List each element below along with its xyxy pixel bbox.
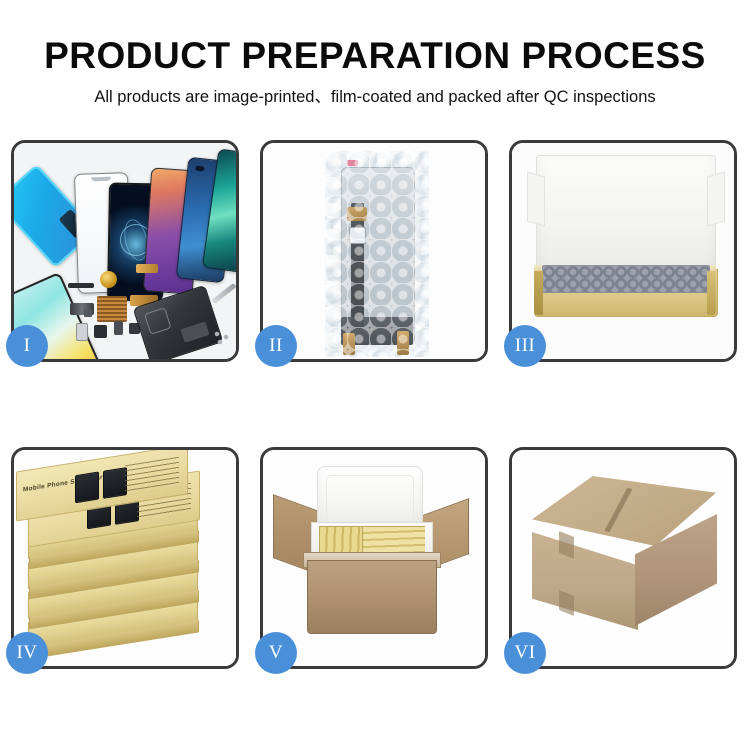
- bubble-wrap-pouch: [325, 151, 429, 357]
- box-edge-left: [534, 271, 543, 315]
- step-badge-4: IV: [6, 632, 48, 674]
- step-badge-2: II: [255, 325, 297, 367]
- page-subtitle: All products are image-printed、film-coat…: [0, 85, 750, 109]
- lid-screen-image-a: [75, 471, 99, 503]
- part-chip-e: [84, 309, 92, 317]
- part-copper-grid: [97, 296, 127, 322]
- part-chip-b: [94, 325, 107, 338]
- part-screws: [214, 331, 232, 345]
- step-card-4: Mobile Phone Spare Parts Mobile Phone Sp…: [11, 447, 239, 669]
- step-photo-foam-lined-carton: [263, 450, 485, 666]
- lcd-gold-contact-left: [343, 333, 355, 355]
- lid-spec-lines: [125, 457, 179, 496]
- step-card-5: V: [260, 447, 488, 669]
- step-card-2: II: [260, 140, 488, 362]
- lcd-flex-cable: [351, 203, 364, 329]
- lcd-driver-ic: [349, 227, 366, 244]
- step-photo-sealed-shipping-carton: [512, 450, 734, 666]
- part-chip-a: [76, 323, 88, 341]
- step-card-6: VI: [509, 447, 737, 669]
- step-badge-6: VI: [504, 632, 546, 674]
- step-photo-open-kraft-box: [512, 143, 734, 359]
- box-bubble-contents: [542, 265, 710, 293]
- box-stack-group: Mobile Phone Spare Parts Mobile Phone Sp…: [14, 450, 236, 666]
- step-badge-1: I: [6, 325, 48, 367]
- step-photo-stacked-retail-boxes: Mobile Phone Spare Parts Mobile Phone Sp…: [14, 450, 236, 666]
- lid-screen-image-b: [103, 467, 127, 499]
- lcd-gold-contact-right: [397, 331, 409, 355]
- step-badge-5: V: [255, 632, 297, 674]
- box-edge-right: [707, 271, 716, 315]
- step-photo-bubble-wrapped-lcd: [263, 143, 485, 359]
- lcd-pink-label: [347, 160, 358, 166]
- carton-body: [307, 560, 437, 634]
- page-title: PRODUCT PREPARATION PROCESS: [0, 34, 750, 78]
- part-black-bar: [68, 283, 94, 288]
- step-card-3: III: [509, 140, 737, 362]
- step-badge-3: III: [504, 325, 546, 367]
- step-card-1: I: [11, 140, 239, 362]
- page-header: PRODUCT PREPARATION PROCESS All products…: [0, 0, 750, 130]
- process-steps-grid: I II: [11, 140, 739, 682]
- step-photo-phone-screens-and-parts: [14, 143, 236, 359]
- lcd-connector: [347, 207, 367, 221]
- part-gold-coil: [100, 271, 117, 288]
- part-chip-c: [114, 321, 123, 335]
- part-flex-cable-c: [136, 264, 158, 273]
